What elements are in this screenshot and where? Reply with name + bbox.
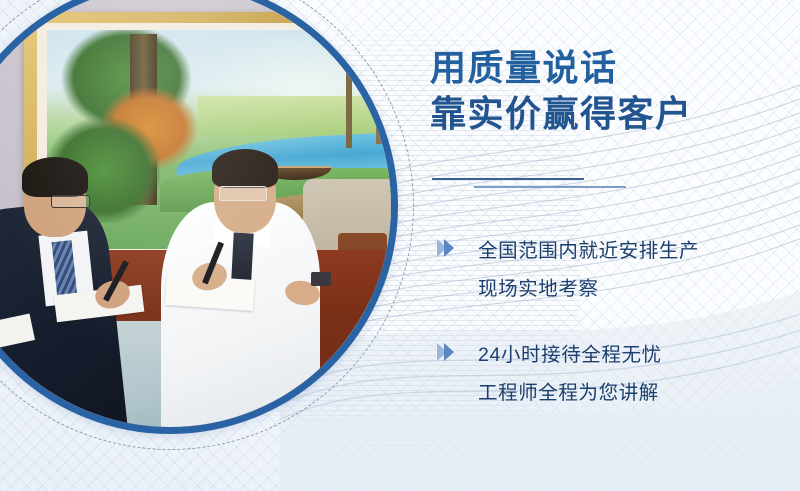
feature-list: 全国范围内就近安排生产 现场实地考察 24小时接待全程无忧 工程师全程为您讲解: [428, 232, 800, 440]
arrow-triangle-right-icon: [434, 237, 458, 259]
meeting-photo: [0, 0, 391, 427]
divider-line-secondary: [474, 186, 626, 188]
headline-line-2: 靠实价赢得客户: [430, 91, 693, 137]
divider-line-primary: [432, 178, 584, 180]
headline-divider: [432, 178, 752, 192]
feature-item-1: 全国范围内就近安排生产 现场实地考察: [428, 232, 800, 308]
headline-block: 用质量说话 靠实价赢得客户: [430, 45, 693, 137]
arrow-triangle-right-icon: [434, 341, 458, 363]
circular-photo-frame: [0, 0, 398, 434]
promo-banner: 用质量说话 靠实价赢得客户 全国范围内就近安排生产 现场实地考察: [0, 0, 800, 491]
headline-line-1: 用质量说话: [430, 45, 693, 91]
banner-content-column: 用质量说话 靠实价赢得客户 全国范围内就近安排生产 现场实地考察: [428, 0, 800, 491]
feature-1-line-1: 全国范围内就近安排生产: [478, 232, 800, 270]
feature-1-line-2: 现场实地考察: [478, 270, 800, 308]
blue-ring-border: [0, 0, 398, 434]
feature-2-line-2: 工程师全程为您讲解: [478, 374, 800, 412]
feature-2-line-1: 24小时接待全程无忧: [478, 336, 800, 374]
feature-item-2: 24小时接待全程无忧 工程师全程为您讲解: [428, 336, 800, 412]
